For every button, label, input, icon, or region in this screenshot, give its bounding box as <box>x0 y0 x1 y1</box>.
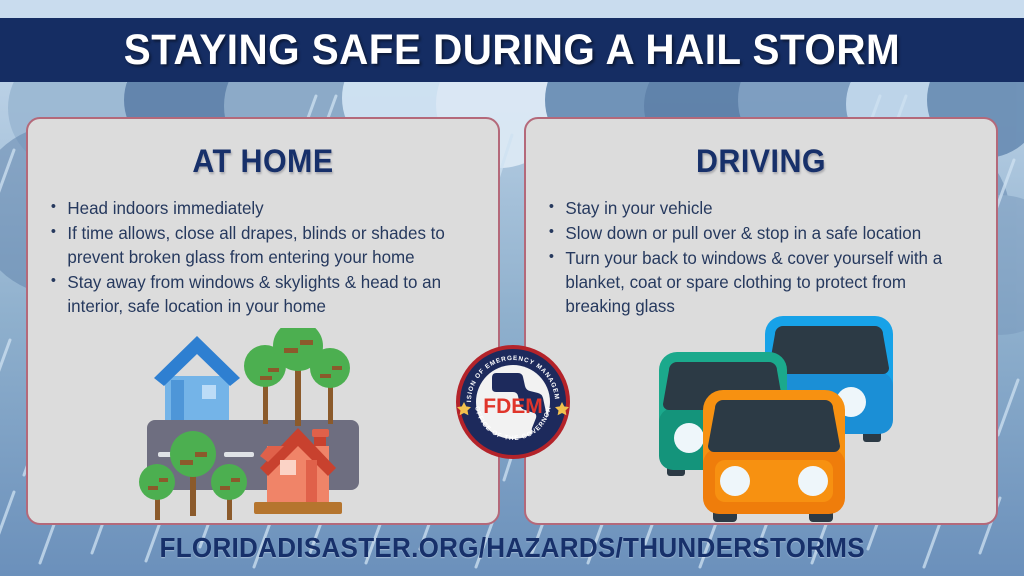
blue-house-icon <box>154 336 240 424</box>
footer: FLORIDADISASTER.ORG/HAZARDS/THUNDERSTORM… <box>0 532 1024 564</box>
panel-heading-driving: DRIVING <box>538 143 985 180</box>
cars-illustration <box>657 314 917 525</box>
header-banner: STAYING SAFE DURING A HAIL STORM <box>0 18 1024 82</box>
orange-car-icon <box>703 390 845 522</box>
tips-list-at-home: Head indoors immediately If time allows,… <box>48 196 480 318</box>
fdem-seal-logo: DIVISION OF EMERGENCY MANAGEMENT OFFICE … <box>454 343 572 461</box>
list-item: Slow down or pull over & stop in a safe … <box>546 221 965 245</box>
panel-at-home: AT HOME Head indoors immediately If time… <box>26 117 500 525</box>
seal-center-text: FDEM <box>483 395 543 418</box>
tips-list-driving: Stay in your vehicle Slow down or pull o… <box>546 196 978 318</box>
panel-driving: DRIVING Stay in your vehicle Slow down o… <box>524 117 998 525</box>
list-item: If time allows, close all drapes, blinds… <box>48 221 467 269</box>
tree-group-back <box>244 328 350 426</box>
list-item: Stay in your vehicle <box>546 196 965 220</box>
footer-url[interactable]: FLORIDADISASTER.ORG/HAZARDS/THUNDERSTORM… <box>159 532 864 564</box>
list-item: Turn your back to windows & cover yourse… <box>546 246 965 318</box>
list-item: Stay away from windows & skylights & hea… <box>48 270 467 318</box>
list-item: Head indoors immediately <box>48 196 467 220</box>
panel-heading-at-home: AT HOME <box>40 143 487 180</box>
neighborhood-illustration <box>132 328 382 525</box>
page-title: STAYING SAFE DURING A HAIL STORM <box>124 26 900 75</box>
